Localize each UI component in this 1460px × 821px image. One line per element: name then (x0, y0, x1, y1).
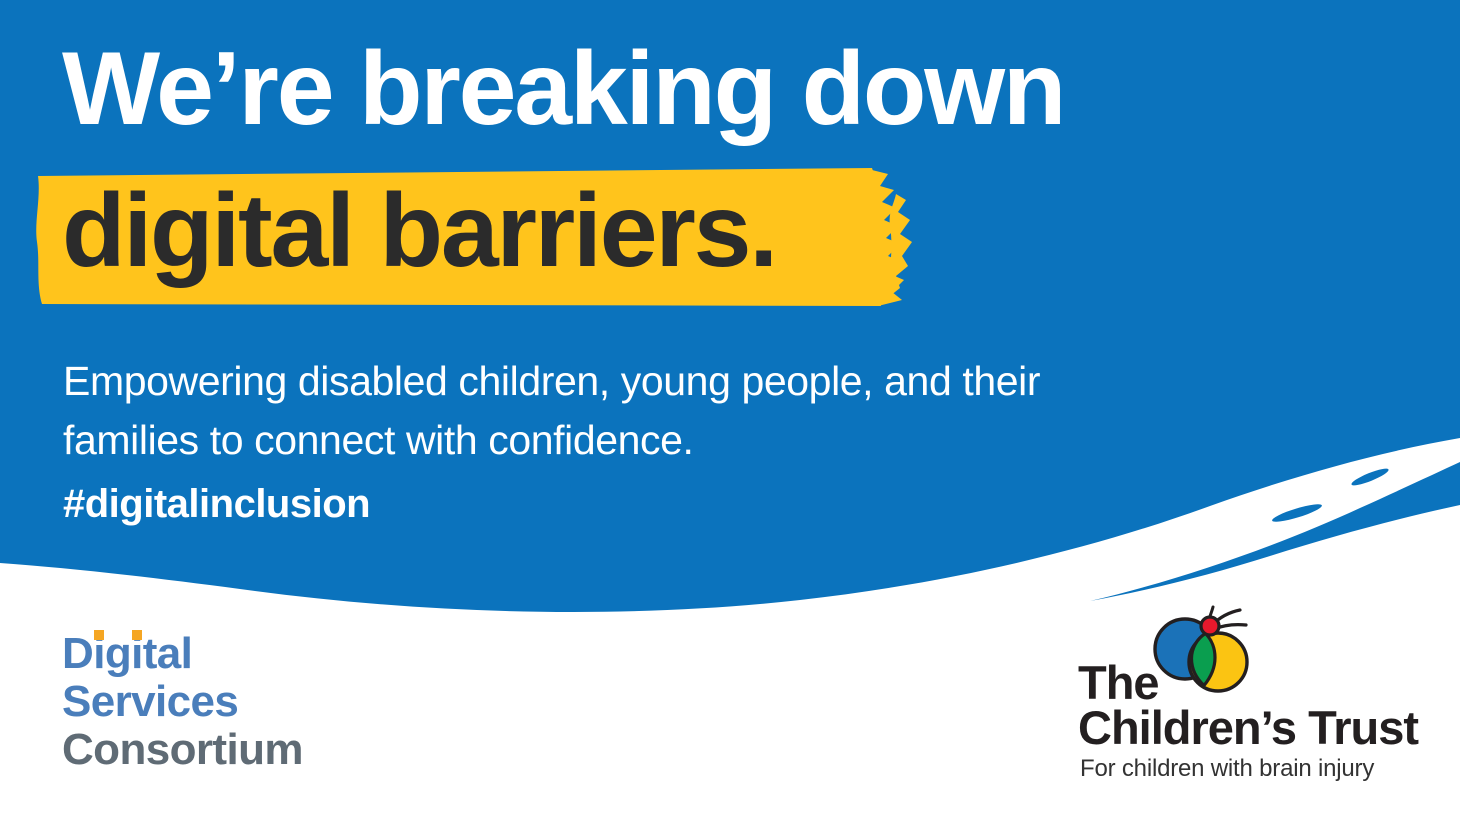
subheading-text: Empowering disabled children, young peop… (63, 352, 1133, 470)
campaign-banner: We’re breaking down digital barriers. Em… (0, 0, 1460, 821)
dsc-logo-line-digital: Digital (62, 632, 303, 676)
childrens-trust-mark-icon (1146, 605, 1258, 701)
dsc-text-i2: i (131, 629, 143, 678)
headline-line-2-highlighted: digital barriers. (62, 178, 776, 284)
campaign-hashtag: #digitalinclusion (63, 482, 370, 527)
dsc-logo-line-services: Services (62, 680, 303, 724)
highlighted-headline-row: digital barriers. (62, 164, 1242, 312)
digital-services-consortium-logo: Digital Services Consortium (62, 632, 303, 776)
dsc-letter-i-second: i (131, 632, 143, 676)
dsc-letter-i-first: i (93, 632, 105, 676)
dsc-text-g: g (105, 629, 131, 678)
dsc-text-d: D (62, 629, 93, 678)
dsc-logo-line-consortium: Consortium (62, 728, 303, 772)
tct-tagline: For children with brain injury (1080, 755, 1374, 783)
tct-word-the: The (1078, 659, 1159, 706)
headline-line-1: We’re breaking down (62, 36, 1242, 142)
tct-word-childrens-trust: Children’s Trust (1078, 704, 1418, 751)
dsc-text-i1: i (93, 629, 105, 678)
headline-block: We’re breaking down digital barriers. (62, 36, 1242, 312)
dsc-text-tal: tal (143, 629, 193, 678)
